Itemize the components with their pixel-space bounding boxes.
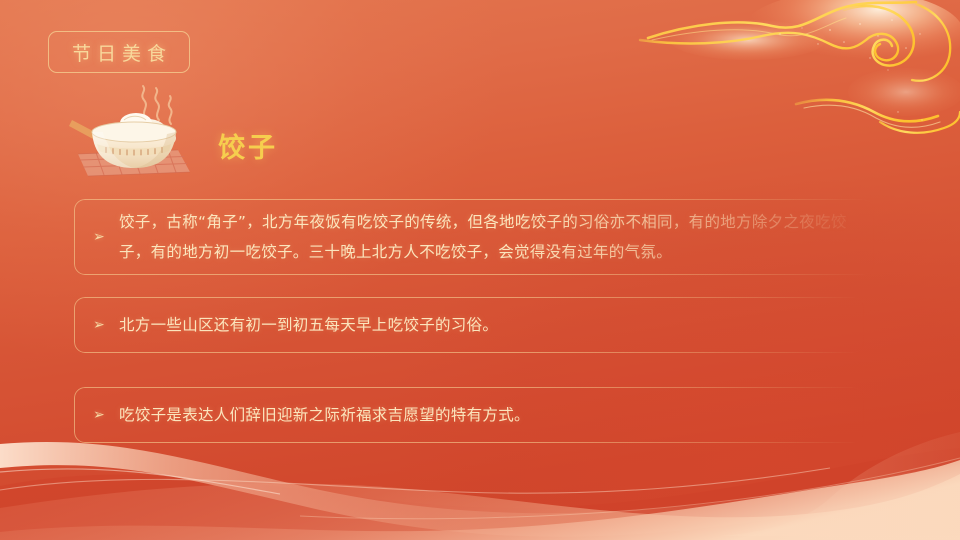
page-title: 饺子: [218, 126, 278, 165]
content-text-1: 饺子，古称“角子”，北方年夜饭有吃饺子的传统，但各地吃饺子的习俗亦不相同，有的地…: [119, 207, 857, 267]
bullet-arrow-icon: ➢: [93, 408, 110, 422]
content-box-3: ➢ 吃饺子是表达人们辞旧迎新之际祈福求吉愿望的特有方式。: [74, 387, 864, 443]
content-box-1: ➢ 饺子，古称“角子”，北方年夜饭有吃饺子的传统，但各地吃饺子的习俗亦不相同，有…: [74, 199, 874, 275]
section-tag-badge: 节日美食: [48, 31, 190, 73]
bullet-arrow-icon: ➢: [93, 230, 110, 244]
section-tag-label: 节日美食: [66, 39, 172, 66]
steaming-dumpling-bowl-icon: [66, 84, 198, 180]
auspicious-cloud-icon: [630, 0, 960, 150]
content-box-2: ➢ 北方一些山区还有初一到初五每天早上吃饺子的习俗。: [74, 297, 864, 353]
slide-canvas: 节日美食: [0, 0, 960, 540]
content-text-3: 吃饺子是表达人们辞旧迎新之际祈福求吉愿望的特有方式。: [119, 401, 847, 429]
content-text-2: 北方一些山区还有初一到初五每天早上吃饺子的习俗。: [119, 311, 847, 339]
bullet-arrow-icon: ➢: [93, 318, 110, 332]
